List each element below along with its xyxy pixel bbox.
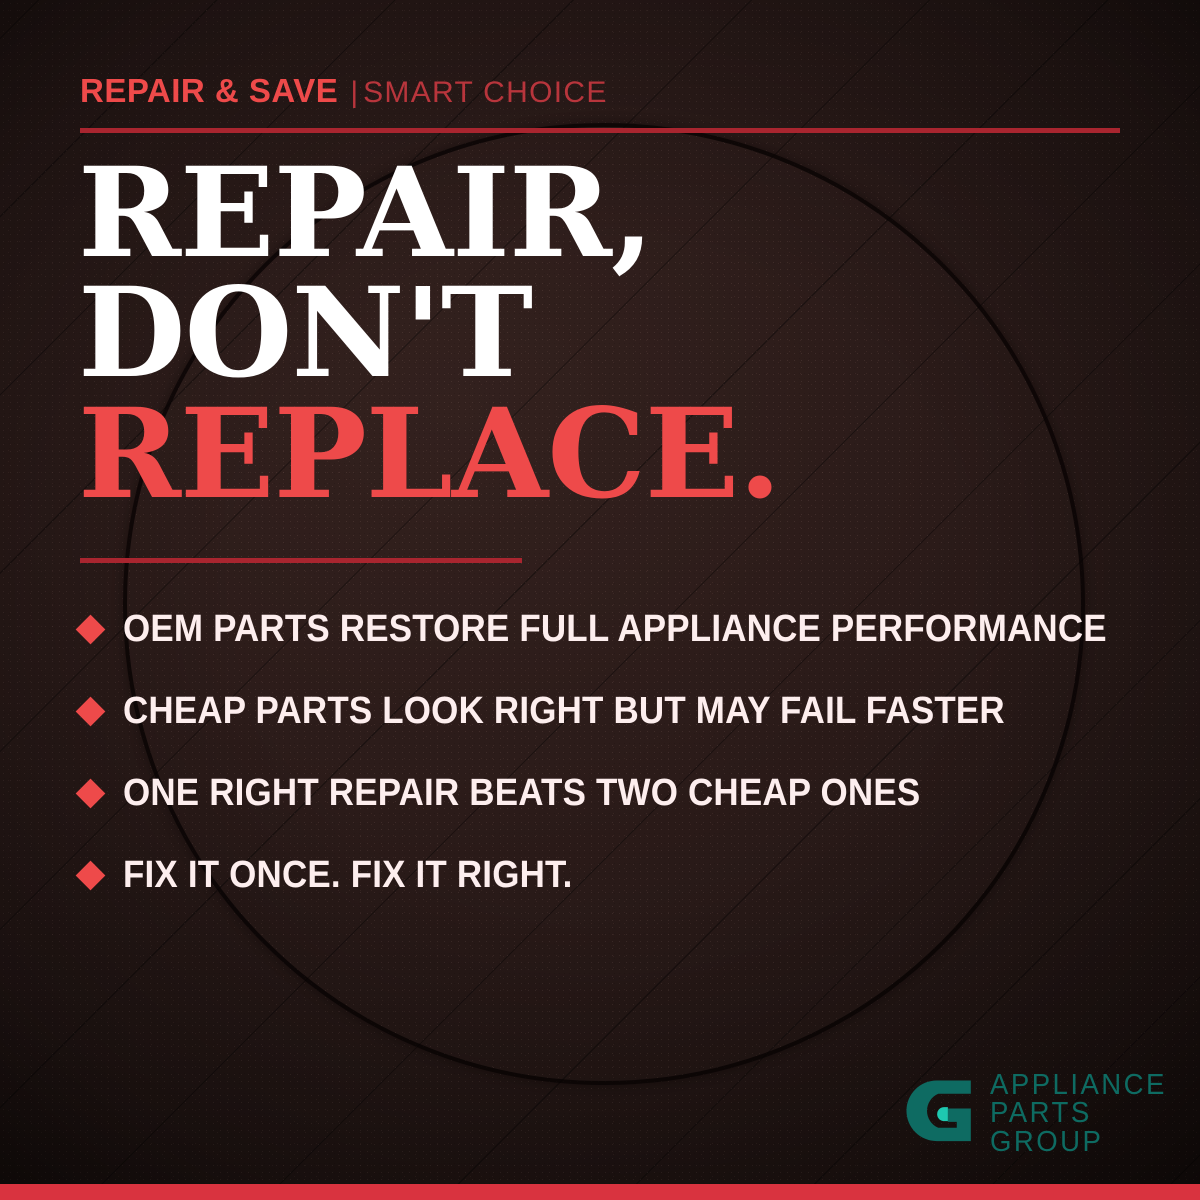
eyebrow-main-label: REPAIR & SAVE	[80, 72, 338, 109]
logo-word-line-2: PARTS	[990, 1099, 1167, 1127]
poster-canvas: REPAIR & SAVE|SMART CHOICE REPAIR, DON'T…	[0, 0, 1200, 1200]
benefits-list: OEM PARTS RESTORE FULL APPLIANCE PERFORM…	[80, 588, 1150, 916]
diamond-icon	[76, 860, 106, 890]
eyebrow-kicker: REPAIR & SAVE|SMART CHOICE	[80, 74, 608, 108]
bottom-accent-bar	[0, 1184, 1200, 1200]
logo-word-line-1: APPLIANCE	[990, 1071, 1167, 1099]
header-divider-rule	[80, 128, 1120, 133]
poster-content: REPAIR & SAVE|SMART CHOICE REPAIR, DON'T…	[0, 0, 1200, 1200]
list-item-label: FIX IT ONCE. FIX IT RIGHT.	[123, 854, 573, 897]
brand-logo-wordmark: APPLIANCE PARTS GROUP	[990, 1071, 1176, 1156]
g-monogram-icon	[902, 1076, 976, 1150]
diamond-icon	[76, 614, 106, 644]
logo-word-line-3: GROUP	[990, 1128, 1167, 1156]
headline-line-3: REPLACE.	[78, 395, 1138, 515]
headline-line-1: REPAIR,	[78, 154, 1138, 274]
list-item: OEM PARTS RESTORE FULL APPLIANCE PERFORM…	[80, 588, 1150, 670]
eyebrow-sub-label: SMART CHOICE	[363, 76, 608, 109]
eyebrow-separator: |	[350, 76, 359, 109]
list-item-label: CHEAP PARTS LOOK RIGHT BUT MAY FAIL FAST…	[123, 690, 1005, 733]
diamond-icon	[76, 696, 106, 726]
headline-line-2: DON'T	[78, 274, 1138, 394]
list-item-label: OEM PARTS RESTORE FULL APPLIANCE PERFORM…	[123, 608, 1107, 651]
list-item: FIX IT ONCE. FIX IT RIGHT.	[80, 834, 1150, 916]
diamond-icon	[76, 778, 106, 808]
list-item: CHEAP PARTS LOOK RIGHT BUT MAY FAIL FAST…	[80, 670, 1150, 752]
bullets-divider-rule	[80, 558, 522, 563]
brand-logo: APPLIANCE PARTS GROUP	[902, 1071, 1176, 1156]
list-item: ONE RIGHT REPAIR BEATS TWO CHEAP ONES	[80, 752, 1150, 834]
headline-block: REPAIR, DON'T REPLACE.	[78, 154, 1138, 515]
list-item-label: ONE RIGHT REPAIR BEATS TWO CHEAP ONES	[123, 772, 920, 815]
